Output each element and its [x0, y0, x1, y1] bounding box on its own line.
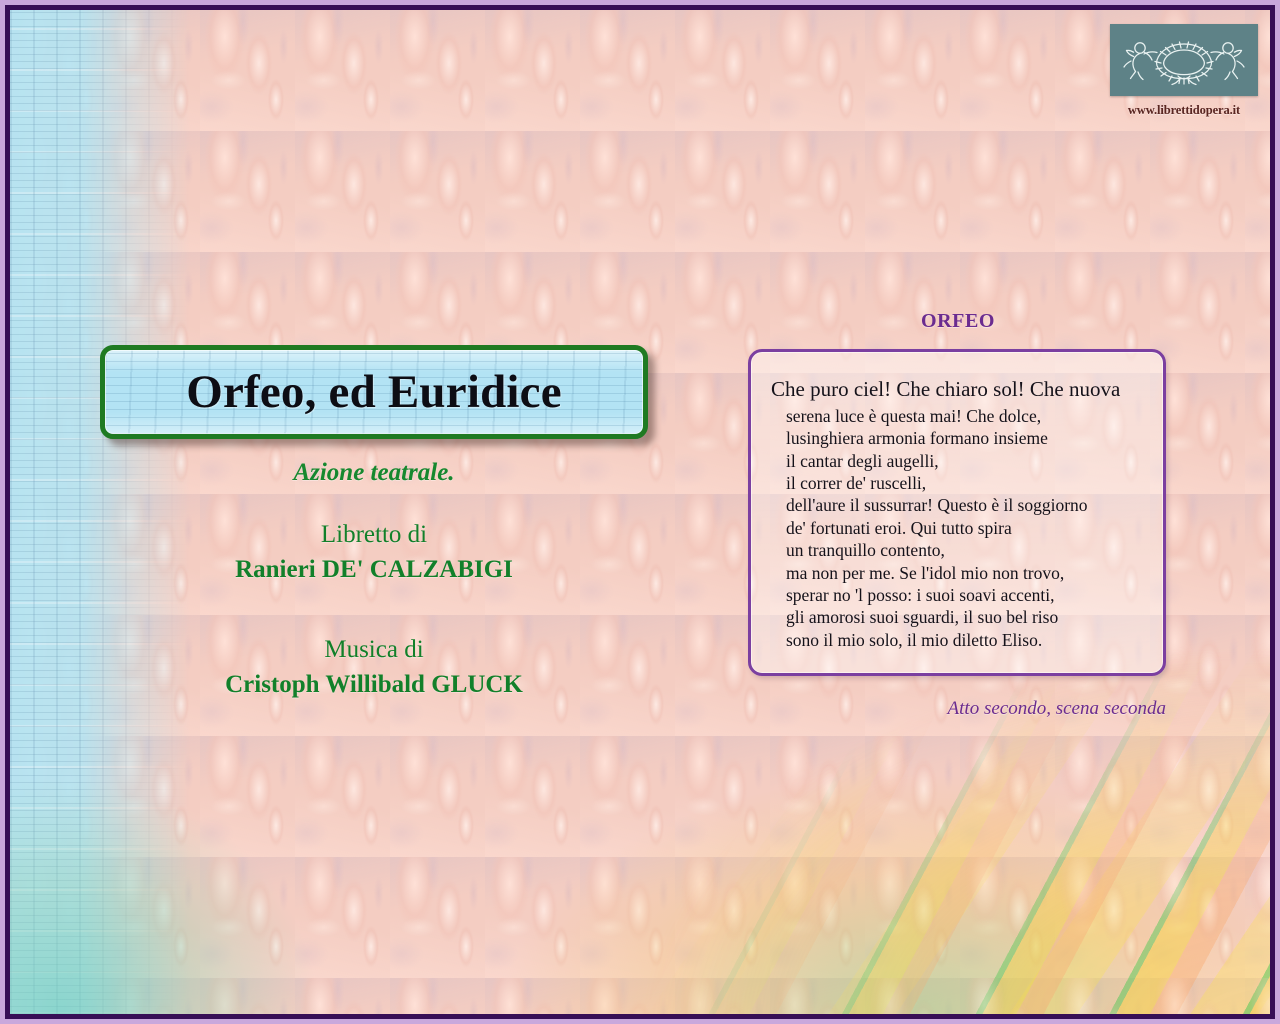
verse-line: serena luce è questa mai! Che dolce,	[771, 405, 1149, 427]
aria-quote-box: Che puro ciel! Che chiaro sol! Che nuova…	[748, 349, 1166, 676]
verse-line: un tranquillo contento,	[771, 539, 1149, 561]
page-title: Orfeo, ed Euridice	[186, 369, 562, 416]
verse-line: gli amorosi suoi sguardi, il suo bel ris…	[771, 606, 1149, 628]
genre-subtitle: Azione teatrale.	[100, 459, 648, 487]
page-canvas: www.librettidopera.it Orfeo, ed Euridice…	[10, 10, 1270, 1014]
character-name: ORFEO	[748, 310, 1168, 333]
librettist-role-label: Libretto di	[100, 518, 648, 553]
verse-line: il cantar degli augelli,	[771, 450, 1149, 472]
page-inner-border: www.librettidopera.it Orfeo, ed Euridice…	[5, 5, 1275, 1019]
verse-line: de' fortunati eroi. Qui tutto spira	[771, 517, 1149, 539]
verse-line: ma non per me. Se l'idol mio non trovo,	[771, 562, 1149, 584]
aria-quote-section: ORFEO Che puro ciel! Che chiaro sol! Che…	[748, 310, 1168, 720]
verse-line: dell'aure il sussurrar! Questo è il sogg…	[771, 494, 1149, 516]
librettist-name: Ranieri DE' CALZABIGI	[100, 553, 648, 588]
verse-line: Che puro ciel! Che chiaro sol! Che nuova	[771, 376, 1149, 403]
composer-credit: Musica di Cristoph Willibald GLUCK	[100, 633, 648, 702]
verse-line: il correr de' ruscelli,	[771, 472, 1149, 494]
composer-name: Cristoph Willibald GLUCK	[100, 668, 648, 703]
opera-title-section: Orfeo, ed Euridice Azione teatrale. Libr…	[100, 345, 660, 702]
publisher-url[interactable]: www.librettidopera.it	[1110, 103, 1258, 118]
publisher-logo[interactable]: www.librettidopera.it	[1110, 24, 1258, 118]
verse-line: sono il mio solo, il mio diletto Eliso.	[771, 629, 1149, 651]
title-plaque: Orfeo, ed Euridice	[100, 345, 648, 439]
verse-line: sperar no 'l posso: i suoi soavi accenti…	[771, 584, 1149, 606]
cherubs-laurel-wreath-emblem	[1120, 31, 1248, 89]
verse-line: lusinghiera armonia formano insieme	[771, 427, 1149, 449]
composer-role-label: Musica di	[100, 633, 648, 668]
page-outer-border: www.librettidopera.it Orfeo, ed Euridice…	[0, 0, 1280, 1024]
logo-plate	[1110, 24, 1258, 96]
librettist-credit: Libretto di Ranieri DE' CALZABIGI	[100, 518, 648, 587]
scene-reference: Atto secondo, scena seconda	[748, 698, 1166, 720]
